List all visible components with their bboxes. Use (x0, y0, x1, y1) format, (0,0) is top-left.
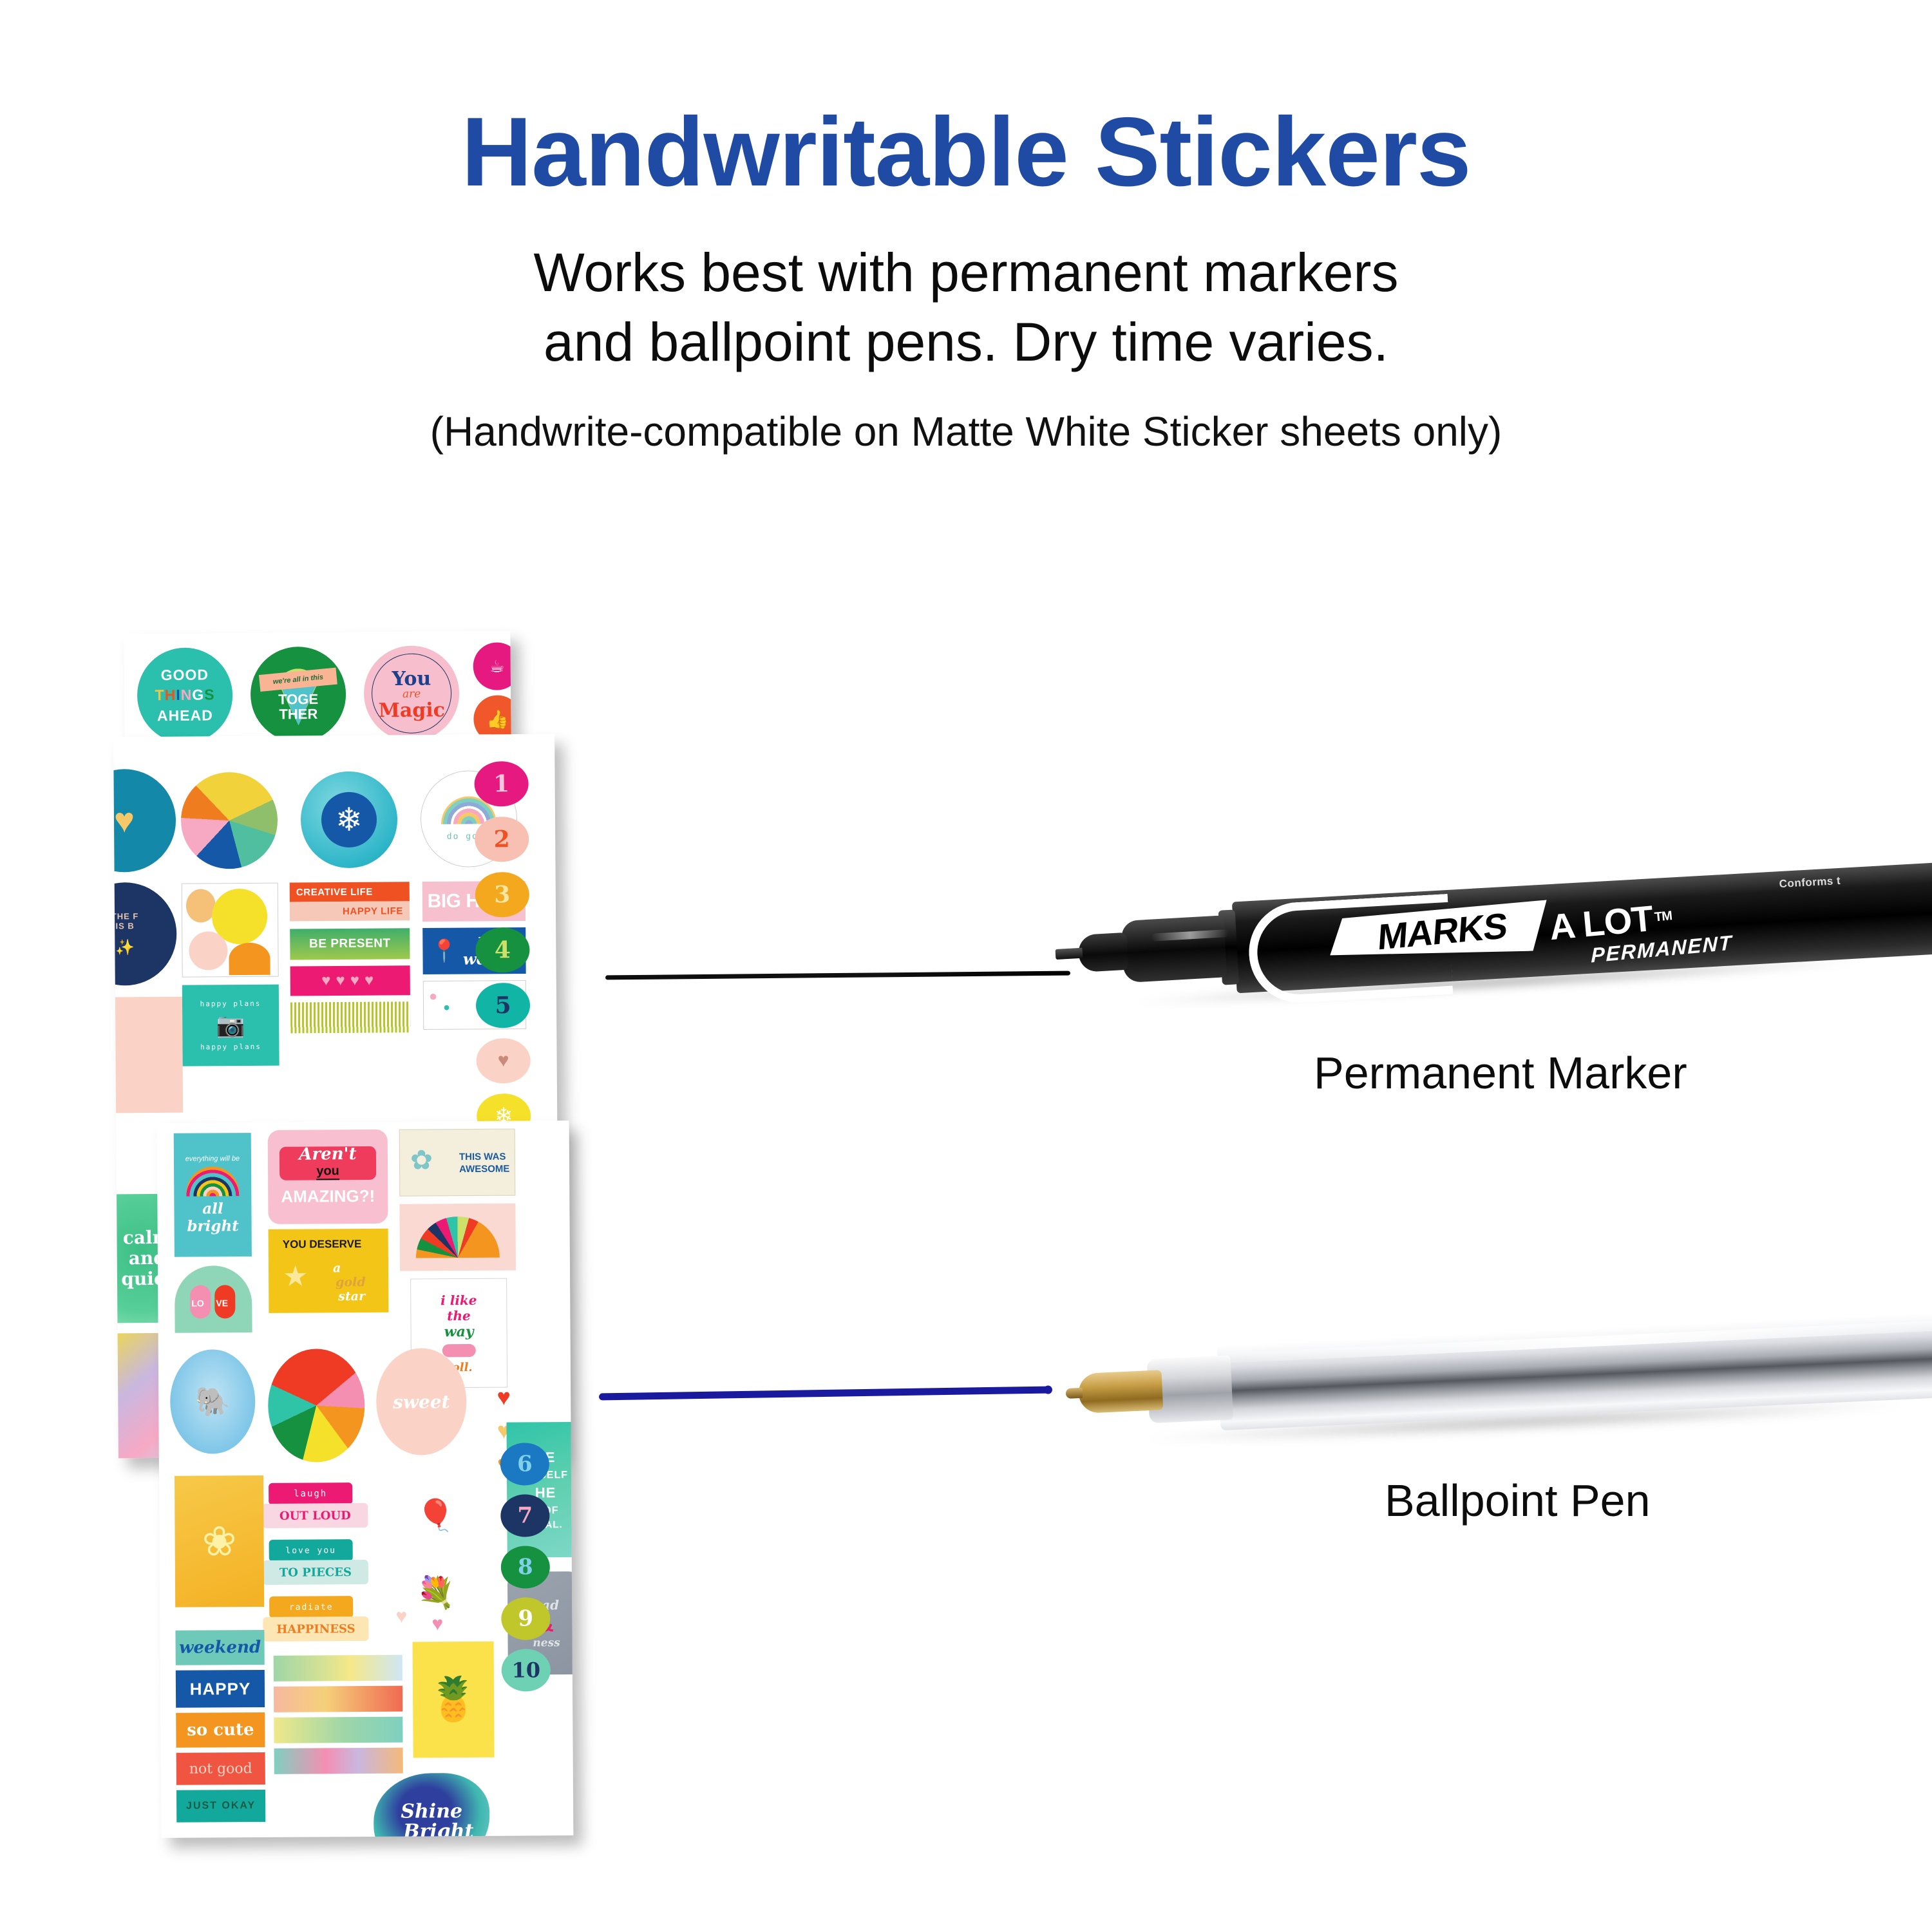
sticker-pink-card-left (113, 997, 183, 1113)
sticker-elephant: 🐘 (170, 1349, 256, 1454)
sticker-banner-green (274, 1717, 402, 1743)
sticker-just-okay: JUST OKAY (176, 1790, 265, 1823)
sticker-love: LO VE (175, 1265, 252, 1333)
pen-ball-tip (1066, 1388, 1083, 1399)
sticker-love-yourself-teal: VEURSELFHE T OFEWAL. (506, 1422, 573, 1558)
sticker-balloons: 🎈 (400, 1479, 471, 1551)
sticker-rainbow-fan-burst (399, 1204, 516, 1271)
marker-tip (1056, 948, 1083, 960)
marker-ink-stroke (605, 971, 1070, 980)
sticker-sheet-front: everything will be all bright Aren't you… (157, 1121, 574, 1838)
sticker-heart-red: ♥ (486, 1381, 522, 1414)
sticker-good-things-ahead: GOOD THINGS AHEAD (137, 647, 232, 743)
pen-ink-stroke (599, 1387, 1050, 1401)
number-sticker-2: 2 (475, 817, 529, 862)
sticker-sheets-stack: GOOD THINGS AHEAD we're all in this TOGE… (0, 0, 644, 1803)
sticker-umbrella-card (182, 883, 279, 978)
sticker-everything-all-bright: everything will be all bright (174, 1133, 252, 1257)
sticker-all-in-this-together: we're all in this TOGETHER (250, 647, 346, 743)
sticker-green-stripes (290, 1001, 410, 1033)
sticker-radiate: radiate (269, 1596, 353, 1618)
sticker-happiness: HAPPINESS (263, 1616, 368, 1642)
sticker-banner-green-yellow (274, 1655, 402, 1681)
sticker-creative-life: CREATIVE LIFE (290, 882, 410, 902)
sticker-to-pieces: TO PIECES (263, 1560, 368, 1585)
number-sticker-10: 10 (502, 1649, 551, 1691)
sticker-out-loud: OUT LOUD (262, 1503, 368, 1528)
sticker-this-was-awesome: ✿ THIS WASAWESOME (399, 1129, 516, 1197)
marker-trademark-symbol: TM (1654, 909, 1672, 925)
sticker-color-wheel-warm (268, 1349, 365, 1463)
sticker-sweet-orange: sweet (376, 1348, 467, 1455)
sticker-happy-life: HAPPY LIFE (290, 901, 410, 921)
sticker-you-are-magic: You are Magic (363, 645, 459, 741)
number-sticker-9: 9 (501, 1597, 550, 1640)
number-sticker-5: 5 (476, 983, 530, 1028)
sticker-pineapple: 🍍 (413, 1642, 495, 1758)
marker-caption: Permanent Marker (1314, 1047, 1687, 1099)
sticker-yellow-flower-card: ❀ (175, 1475, 264, 1607)
sticker-so-cute: so cute (176, 1712, 265, 1748)
pen-caption: Ballpoint Pen (1385, 1475, 1651, 1526)
sticker-arent-you-amazing: Aren't you AMAZING?! (268, 1130, 388, 1224)
sticker-heart-pink-pale: ♥ (386, 1604, 416, 1631)
ballpoint-pen (1063, 1286, 1932, 1462)
sticker-heart-pink: ♥ (422, 1611, 452, 1638)
sticker-color-pie-wheel (180, 772, 278, 869)
sticker-banner-multi (274, 1748, 403, 1774)
number-sticker-1: 1 (474, 761, 528, 807)
sticker-weekend: weekend (175, 1630, 264, 1665)
sticker-you-deserve-gold-star: YOU DESERVE ★ a gold star (269, 1229, 389, 1313)
number-strip-1-5: 1 2 3 4 5 ♥ ❄ (474, 761, 554, 1174)
number-sticker-6: 6 (500, 1443, 549, 1485)
sticker-striped-heart: ♥ (476, 1038, 530, 1084)
sticker-banner-coral (274, 1686, 402, 1712)
sticker-cupcake: ☕ (473, 642, 515, 690)
sticker-hearts-bar: ♥♥♥♥ (290, 965, 410, 996)
sticker-love-you: love you (269, 1539, 353, 1562)
sticker-happy-plans: happy plans 📷 happy plans (182, 985, 279, 1066)
number-sticker-8: 8 (501, 1546, 550, 1588)
permanent-marker: MARKS A LOTTM PERMANENT Conforms t (1052, 851, 1932, 1030)
marker-cone (1077, 933, 1128, 972)
sticker-teal-blob-left: ♥ (113, 769, 176, 873)
sticker-not-good: not good (176, 1752, 265, 1785)
sticker-laugh: laugh (269, 1482, 352, 1505)
sticker-daisy-flower: ❄ (300, 771, 397, 868)
sticker-be-present: BE PRESENT (290, 928, 410, 960)
number-strip-6-10: 6 7 8 9 10 (408, 1778, 488, 1838)
sticker-navy-future-left: THE FIS B ✨ (113, 882, 177, 986)
number-sticker-4: 4 (475, 927, 529, 973)
marker-collar (1121, 915, 1227, 983)
sticker-happy: HAPPY (176, 1670, 265, 1708)
pen-cone (1078, 1370, 1164, 1414)
number-sticker-7: 7 (500, 1494, 549, 1537)
number-sticker-3: 3 (475, 872, 529, 918)
